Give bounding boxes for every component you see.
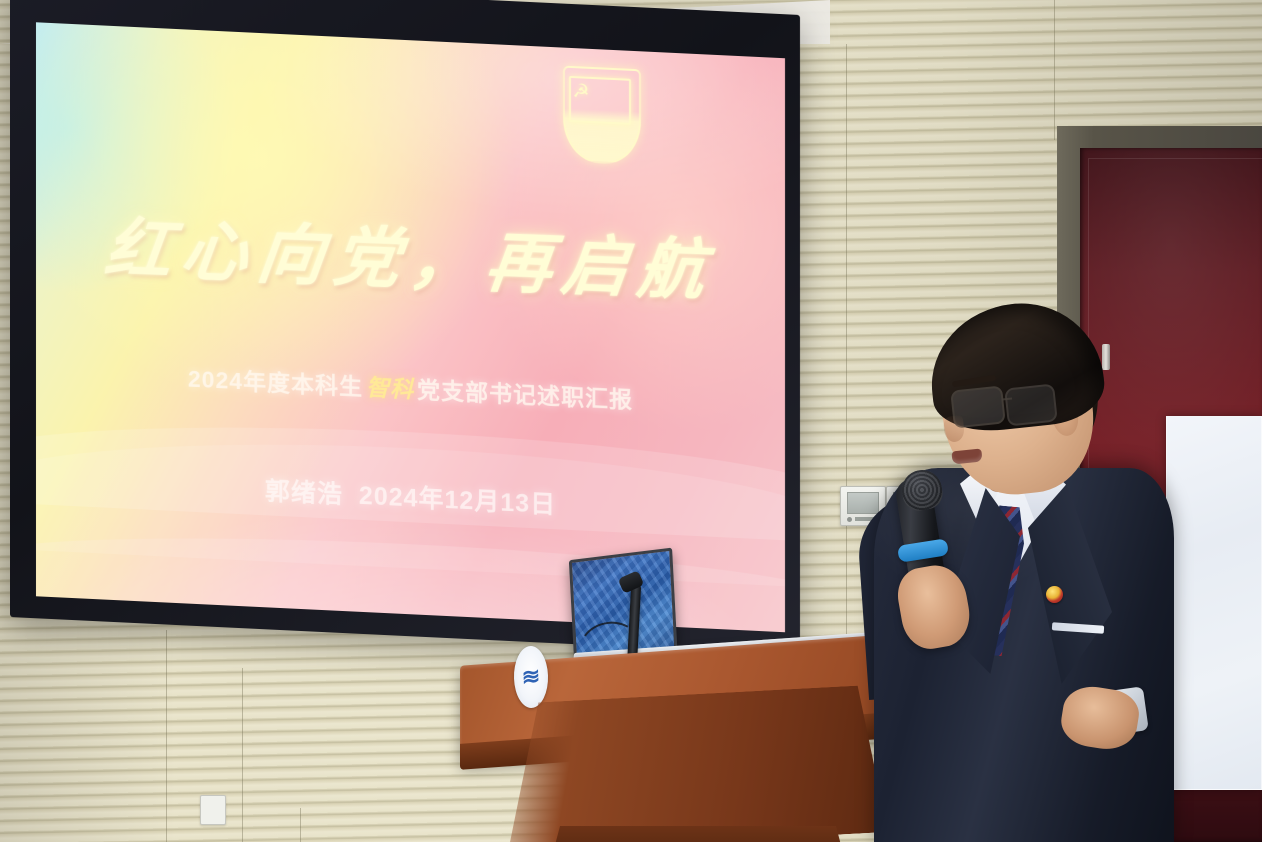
party-flag-emblem-icon: ☭: [563, 66, 641, 166]
slide-subtitle-prefix: 2024年度本科生: [188, 366, 363, 400]
slide-byline: 郭绪浩2024年12月13日: [36, 460, 785, 532]
lectern-body: [508, 684, 888, 842]
slide-title: 红心向党，再启航: [36, 192, 785, 316]
lectern-base: [548, 826, 848, 842]
projection-screen: ☭ 红心向党，再启航 2024年度本科生智科党支部书记述职汇报 郭绪浩2024年…: [10, 0, 800, 655]
wall-seam: [242, 668, 243, 842]
presenter-person: [856, 300, 1186, 842]
presentation-slide: ☭ 红心向党，再启航 2024年度本科生智科党支部书记述职汇报 郭绪浩2024年…: [36, 22, 785, 632]
presentation-date: 2024年12月13日: [359, 482, 556, 519]
wall-seam: [166, 630, 167, 842]
party-member-lapel-pin-icon: [1046, 586, 1063, 603]
slide-subtitle: 2024年度本科生智科党支部书记述职汇报: [36, 352, 785, 422]
hammer-and-sickle-icon: ☭: [573, 82, 590, 102]
power-outlet[interactable]: [200, 795, 226, 825]
wall-seam: [846, 44, 847, 644]
byline-spacer: [343, 503, 359, 504]
slide-subtitle-suffix: 党支部书记述职汇报: [417, 377, 633, 413]
slide-glow: [36, 22, 785, 632]
presenter-name: 郭绪浩: [265, 477, 343, 509]
wall-seam: [300, 808, 301, 842]
university-logo-icon: ≋: [521, 665, 540, 689]
eyeglasses-lens-right: [1004, 383, 1058, 426]
panel-button-icon[interactable]: [847, 517, 852, 522]
slide-subtitle-highlight: 智科: [363, 374, 417, 403]
wall-seam: [1054, 0, 1055, 140]
photo-scene: ☭ 红心向党，再启航 2024年度本科生智科党支部书记述职汇报 郭绪浩2024年…: [0, 0, 1262, 842]
